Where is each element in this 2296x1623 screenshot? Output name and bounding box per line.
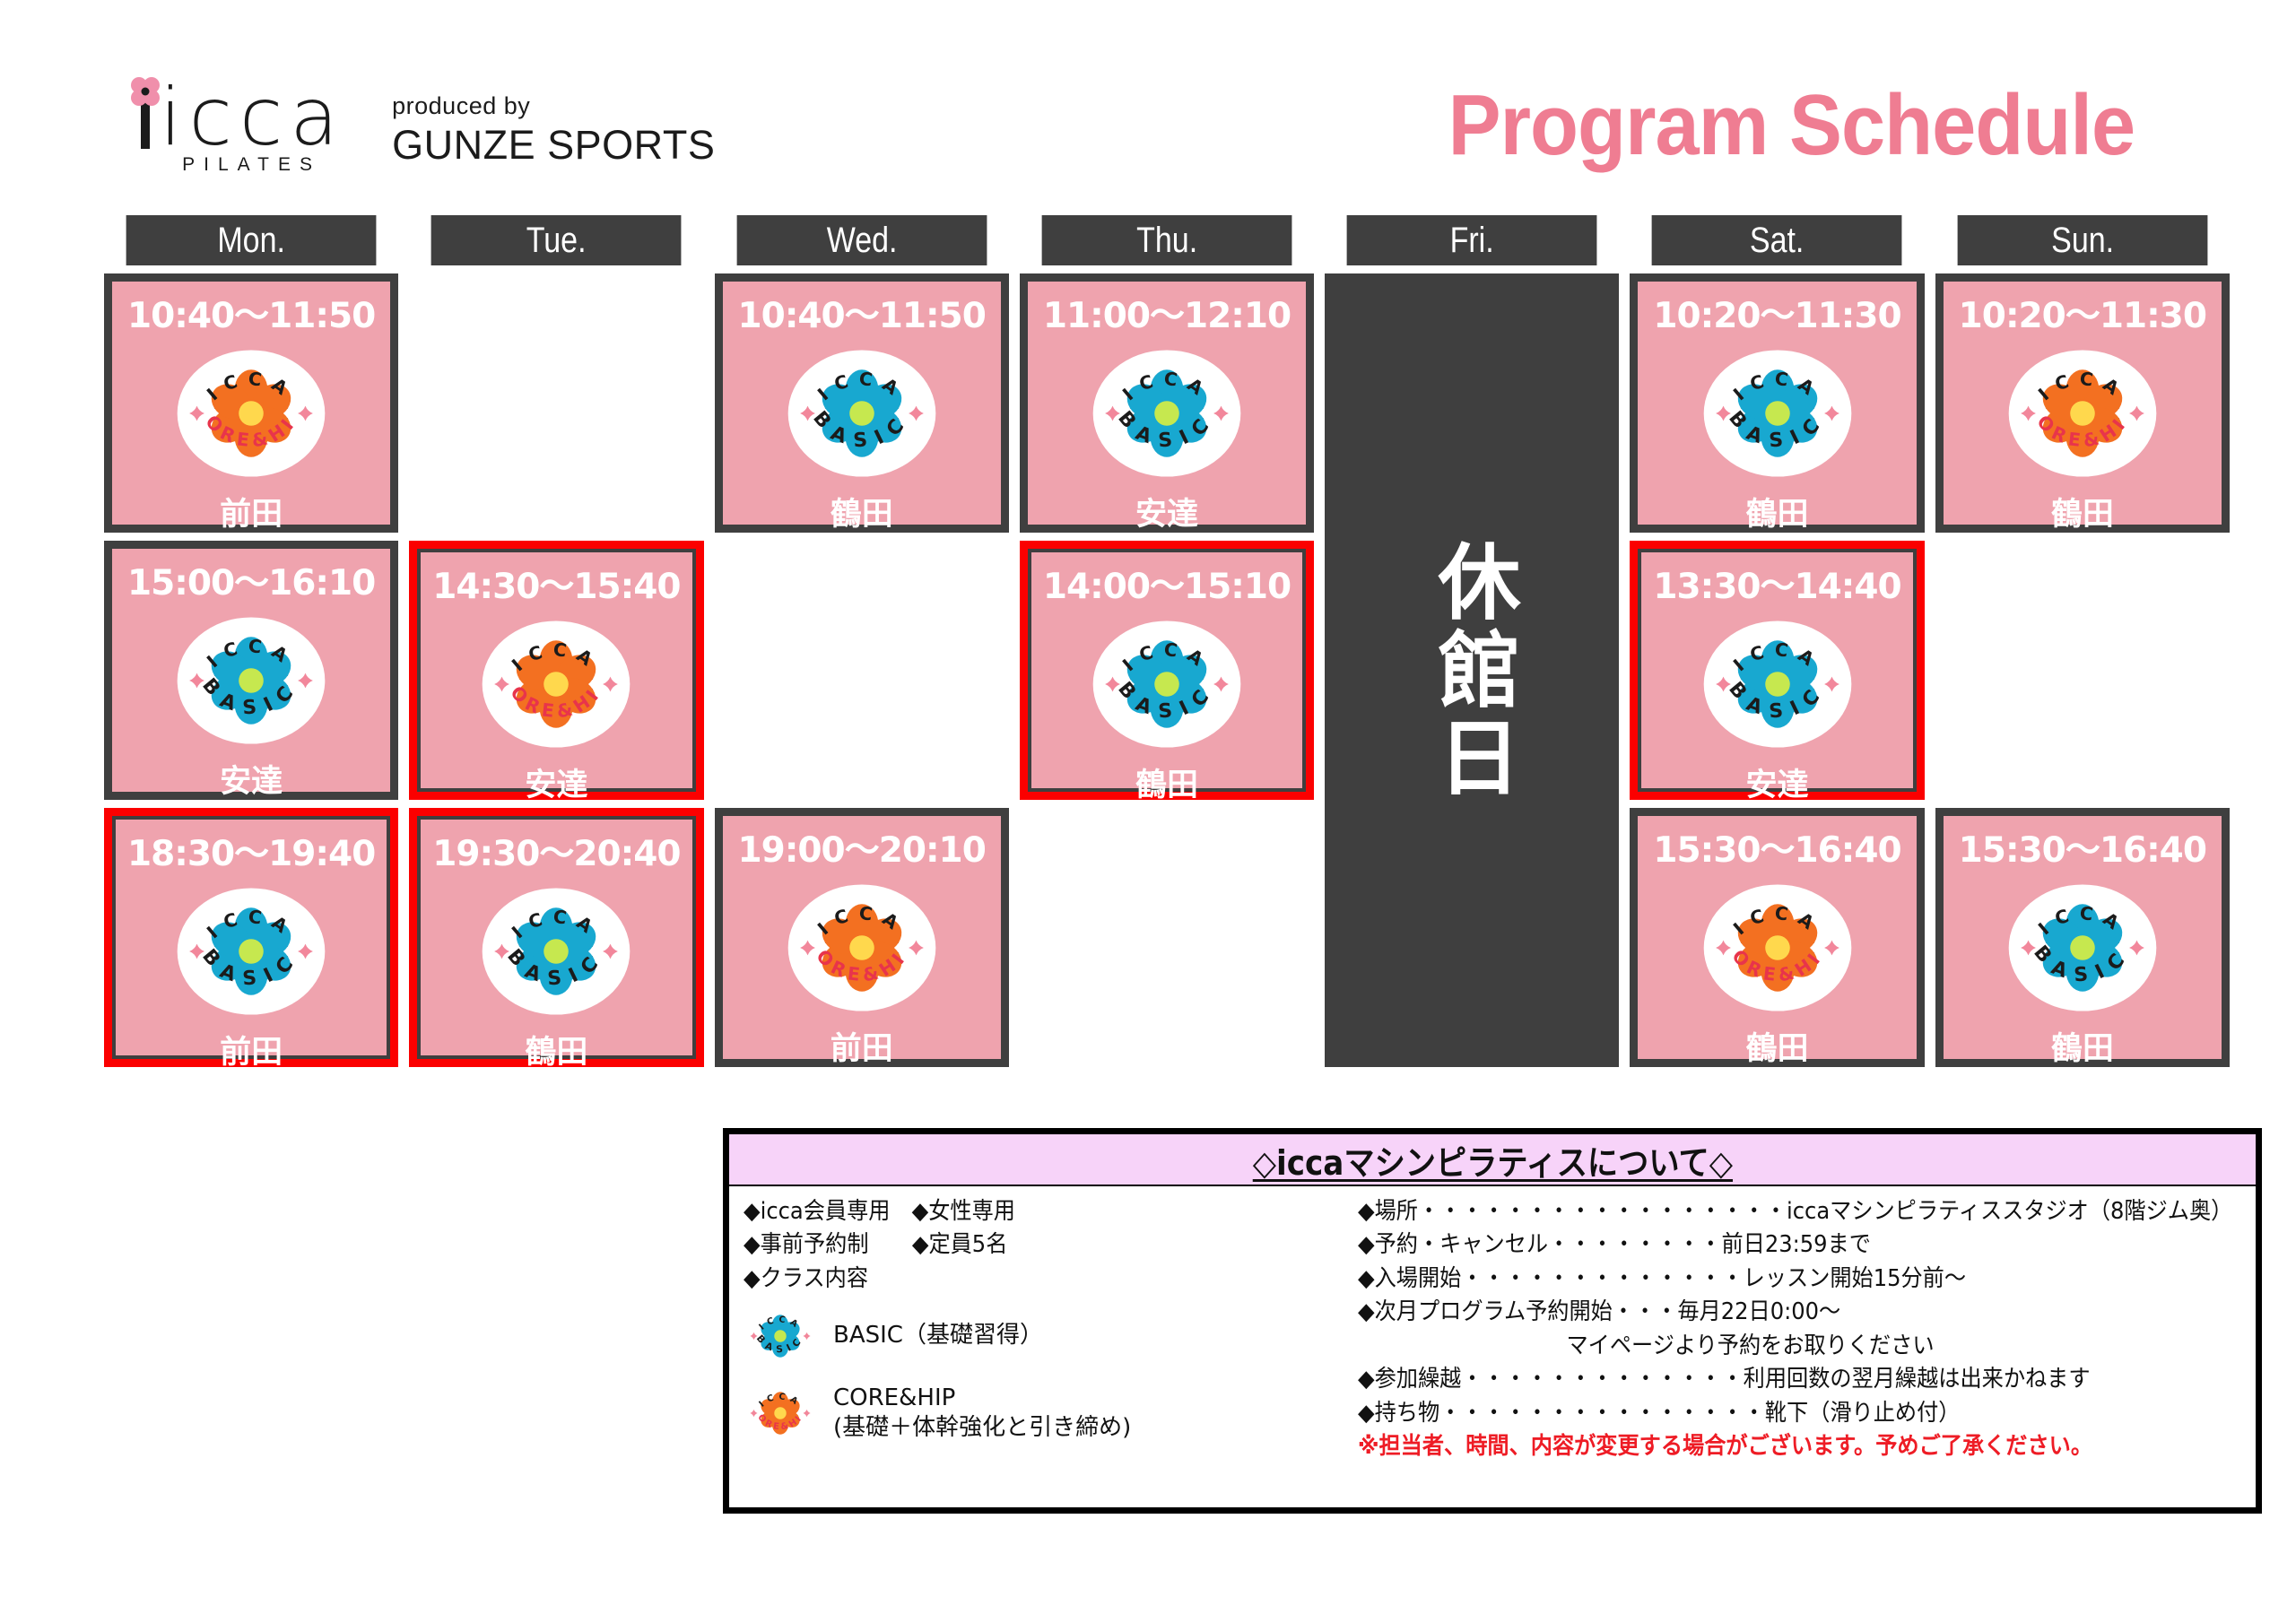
info-right-column: ◆場所・・・・・・・・・・・・・・・・・iccaマシンピラティススタジオ（8階ジ… (1358, 1195, 2241, 1464)
class-cell-highlighted[interactable]: 14:00〜15:10 ICCA BASIC 鶴田 (1020, 541, 1314, 800)
legend-label: BASIC（基礎習得） (833, 1321, 1043, 1351)
class-badge: ICCA BASIC (176, 605, 326, 756)
class-slot[interactable]: 10:20〜11:30 ICCA CORE&HIP 鶴田 (1935, 273, 2230, 533)
class-instructor: 鶴田 (1135, 759, 1198, 805)
day-column-thu: 11:00〜12:10 ICCA BASIC 安達 14:00〜15:10 (1020, 273, 1314, 1067)
class-badge: ICCA BASIC (2007, 872, 2158, 1023)
class-card[interactable]: 10:40〜11:50 ICCA BASIC 鶴田 (723, 282, 1001, 525)
class-badge: ICCA BASIC (1091, 338, 1242, 489)
class-card[interactable]: 14:30〜15:40 ICCA CORE&HIP 安達 (421, 552, 691, 788)
class-badge: ICCA BASIC (787, 338, 937, 489)
icca-logo: icca PILATES (135, 79, 345, 176)
basic-program-badge-icon: ICCA BASIC (1091, 338, 1242, 489)
schedule-grid: Mon.Tue.Wed.Thu.Fri.Sat.Sun. 10:40〜11:50… (104, 215, 2230, 1067)
class-card[interactable]: 10:40〜11:50 ICCA CORE&HIP 前田 (112, 282, 390, 525)
class-badge: ICCA BASIC (1091, 609, 1242, 759)
day-header-sun: Sun. (1957, 215, 2207, 265)
class-card[interactable]: 15:00〜16:10 ICCA BASIC 安達 (112, 549, 390, 792)
day-header-wed: Wed. (736, 215, 987, 265)
info-bullet-line: ◆クラス内容 (744, 1263, 1315, 1296)
class-card[interactable]: 14:00〜15:10 ICCA BASIC 鶴田 (1031, 552, 1302, 788)
basic-program-badge-icon: ICCA BASIC (176, 605, 326, 756)
closed-day-cell: 休館日 (1325, 273, 1619, 1067)
info-box: ◇iccaマシンピラティスについて◇ ◆icca会員専用 ◆女性専用◆事前予約制… (723, 1128, 2262, 1514)
info-detail-line: ◆場所・・・・・・・・・・・・・・・・・iccaマシンピラティススタジオ（8階ジ… (1358, 1195, 2179, 1228)
class-badge: ICCA CORE&HIP (481, 609, 631, 759)
class-slot[interactable]: 15:30〜16:40 ICCA BASIC 鶴田 (1935, 808, 2230, 1067)
class-badge: ICCA CORE&HIP (176, 338, 326, 489)
logo-letters: icca (160, 87, 345, 149)
class-cell[interactable]: 15:00〜16:10 ICCA BASIC 安達 (104, 541, 398, 800)
class-slot[interactable]: 10:40〜11:50 ICCA BASIC 鶴田 (715, 273, 1009, 533)
highlight-border: 14:00〜15:10 ICCA BASIC 鶴田 (1020, 541, 1314, 800)
logo-i-stem (135, 79, 156, 149)
class-card[interactable]: 19:30〜20:40 ICCA BASIC 鶴田 (421, 820, 691, 1055)
class-instructor: 鶴田 (1746, 489, 1809, 534)
info-title-bar: ◇iccaマシンピラティスについて◇ (729, 1134, 2256, 1186)
corehip-program-badge-icon: ICCA CORE&HIP (787, 872, 937, 1023)
class-card[interactable]: 10:20〜11:30 ICCA BASIC 鶴田 (1638, 282, 1916, 525)
class-card[interactable]: 19:00〜20:10 ICCA CORE&HIP 前田 (723, 816, 1001, 1059)
class-badge: ICCA CORE&HIP (1702, 872, 1853, 1023)
basic-program-badge-icon: ICCA BASIC (481, 876, 631, 1027)
class-cell-highlighted[interactable]: 13:30〜14:40 ICCA BASIC 安達 (1630, 541, 1924, 800)
day-header-mon: Mon. (126, 215, 377, 265)
class-badge: ICCA BASIC (176, 876, 326, 1027)
class-time: 18:30〜19:40 (127, 826, 375, 876)
class-time: 15:00〜16:10 (127, 555, 375, 605)
day-header-thu: Thu. (1041, 215, 1291, 265)
basic-program-badge-icon: ICCA BASIC (1091, 609, 1242, 759)
class-badge: ICCA BASIC (1702, 609, 1853, 759)
basic-program-badge-icon: ICCA BASIC (744, 1299, 817, 1373)
info-title: ◇iccaマシンピラティスについて◇ (1252, 1135, 1732, 1185)
class-instructor: 前田 (220, 1027, 283, 1072)
highlight-border: 18:30〜19:40 ICCA BASIC 前田 (104, 808, 398, 1067)
class-badge: ICCA BASIC (1702, 338, 1853, 489)
closed-day-block: 休館日 (1325, 273, 1619, 1067)
partner-name: GUNZE SPORTS (392, 122, 715, 169)
class-slot[interactable]: 14:30〜15:40 ICCA CORE&HIP 安達 (409, 541, 703, 800)
class-cell-highlighted[interactable]: 18:30〜19:40 ICCA BASIC 前田 (104, 808, 398, 1067)
class-cell[interactable]: 15:30〜16:40 ICCA BASIC 鶴田 (1935, 808, 2230, 1067)
legend-badge: ICCA BASIC (744, 1299, 817, 1373)
class-instructor: 安達 (1746, 759, 1809, 805)
class-card[interactable]: 18:30〜19:40 ICCA BASIC 前田 (116, 820, 387, 1055)
flower-icon (127, 74, 163, 109)
class-cell[interactable]: 10:40〜11:50 ICCA CORE&HIP 前田 (104, 273, 398, 533)
info-detail-line: ◆持ち物・・・・・・・・・・・・・・・靴下（滑り止め付） (1358, 1397, 2179, 1430)
day-column-tue: 14:30〜15:40 ICCA CORE&HIP 安達 19:30〜20:40 (409, 273, 703, 1067)
class-instructor: 安達 (220, 756, 283, 802)
corehip-program-badge-icon: ICCA CORE&HIP (481, 609, 631, 759)
class-instructor: 前田 (220, 489, 283, 534)
class-cell-highlighted[interactable]: 19:30〜20:40 ICCA BASIC 鶴田 (409, 808, 703, 1067)
class-legend-row: ICCA BASIC BASIC（基礎習得） (744, 1299, 1358, 1373)
day-header-fri: Fri. (1347, 215, 1597, 265)
class-cell[interactable]: 10:20〜11:30 ICCA BASIC 鶴田 (1630, 273, 1924, 533)
day-column-wed: 10:40〜11:50 ICCA BASIC 鶴田 19:00〜20:10 (715, 273, 1009, 1067)
class-card[interactable]: 15:30〜16:40 ICCA CORE&HIP 鶴田 (1638, 816, 1916, 1059)
class-time: 14:30〜15:40 (432, 559, 680, 609)
class-card[interactable]: 10:20〜11:30 ICCA CORE&HIP 鶴田 (1944, 282, 2222, 525)
schedule-columns: 10:40〜11:50 ICCA CORE&HIP 前田 15:00〜16:10 (104, 273, 2230, 1067)
day-header-sat: Sat. (1652, 215, 1902, 265)
brand-lockup: icca PILATES produced by GUNZE SPORTS (135, 79, 715, 176)
icca-wordmark: icca (135, 79, 345, 149)
class-slot[interactable]: 18:30〜19:40 ICCA BASIC 前田 (104, 808, 398, 1067)
class-cell[interactable]: 10:40〜11:50 ICCA BASIC 鶴田 (715, 273, 1009, 533)
class-time: 10:40〜11:50 (738, 288, 986, 338)
highlight-border: 14:30〜15:40 ICCA CORE&HIP 安達 (409, 541, 703, 800)
info-warning-line: ※担当者、時間、内容が変更する場合がございます。予めご了承ください。 (1358, 1430, 2179, 1463)
class-cell[interactable]: 10:20〜11:30 ICCA CORE&HIP 鶴田 (1935, 273, 2230, 533)
info-detail-line: ◆予約・キャンセル・・・・・・・・前日23:59まで (1358, 1228, 2179, 1262)
corehip-program-badge-icon: ICCA CORE&HIP (1702, 872, 1853, 1023)
class-cell[interactable]: 11:00〜12:10 ICCA BASIC 安達 (1020, 273, 1314, 533)
class-badge: ICCA BASIC (481, 876, 631, 1027)
class-time: 19:30〜20:40 (432, 826, 680, 876)
program-schedule-poster: icca PILATES produced by GUNZE SPORTS Pr… (0, 0, 2296, 1623)
class-time: 13:30〜14:40 (1653, 559, 1900, 609)
class-card[interactable]: 11:00〜12:10 ICCA BASIC 安達 (1028, 282, 1306, 525)
corehip-program-badge-icon: ICCA CORE&HIP (176, 338, 326, 489)
produced-by-block: produced by GUNZE SPORTS (392, 92, 715, 176)
class-badge: ICCA CORE&HIP (787, 872, 937, 1023)
class-instructor: 安達 (1135, 489, 1198, 534)
class-badge: ICCA CORE&HIP (2007, 338, 2158, 489)
corehip-program-badge-icon: ICCA CORE&HIP (744, 1376, 817, 1450)
class-slot[interactable]: 11:00〜12:10 ICCA BASIC 安達 (1020, 273, 1314, 533)
highlight-border: 19:30〜20:40 ICCA BASIC 鶴田 (409, 808, 703, 1067)
class-cell-highlighted[interactable]: 14:30〜15:40 ICCA CORE&HIP 安達 (409, 541, 703, 800)
class-time: 15:30〜16:40 (1959, 822, 2206, 872)
info-bullet-line: ◆事前予約制 ◆定員5名 (744, 1228, 1315, 1262)
class-card[interactable]: 13:30〜14:40 ICCA BASIC 安達 (1641, 552, 1912, 788)
class-slot[interactable]: 19:30〜20:40 ICCA BASIC 鶴田 (409, 808, 703, 1067)
class-instructor: 鶴田 (525, 1027, 587, 1072)
info-left-column: ◆icca会員専用 ◆女性専用◆事前予約制 ◆定員5名◆クラス内容 ICCA B… (744, 1195, 1358, 1464)
day-header-row: Mon.Tue.Wed.Thu.Fri.Sat.Sun. (104, 215, 2230, 265)
class-legend-row: ICCA CORE&HIP CORE&HIP(基礎＋体幹強化と引き締め) (744, 1376, 1358, 1450)
class-instructor: 鶴田 (1746, 1023, 1809, 1069)
info-detail-line: ◆入場開始・・・・・・・・・・・・・レッスン開始15分前〜 (1358, 1263, 2179, 1296)
class-slot[interactable]: 10:20〜11:30 ICCA BASIC 鶴田 (1630, 273, 1924, 533)
produced-by-label: produced by (392, 92, 715, 120)
class-slot[interactable]: 19:00〜20:10 ICCA CORE&HIP 前田 (715, 808, 1009, 1067)
class-instructor: 前田 (831, 1023, 893, 1069)
class-instructor: 鶴田 (2051, 1023, 2114, 1069)
info-detail-line: ◆参加繰越・・・・・・・・・・・・・利用回数の翌月繰越は出来かねます (1358, 1363, 2179, 1396)
class-slot[interactable]: 15:00〜16:10 ICCA BASIC 安達 (104, 541, 398, 800)
day-column-fri: 休館日 (1325, 273, 1619, 1067)
class-card[interactable]: 15:30〜16:40 ICCA BASIC 鶴田 (1944, 816, 2222, 1059)
class-slot[interactable]: 13:30〜14:40 ICCA BASIC 安達 (1630, 541, 1924, 800)
class-time: 15:30〜16:40 (1653, 822, 1900, 872)
class-time: 19:00〜20:10 (738, 822, 986, 872)
class-instructor: 鶴田 (2051, 489, 2114, 534)
corehip-program-badge-icon: ICCA CORE&HIP (2007, 338, 2158, 489)
highlight-border: 13:30〜14:40 ICCA BASIC 安達 (1630, 541, 1924, 800)
class-cell[interactable]: 15:30〜16:40 ICCA CORE&HIP 鶴田 (1630, 808, 1924, 1067)
class-instructor: 安達 (525, 759, 587, 805)
day-header-tue: Tue. (431, 215, 682, 265)
page-title: Program Schedule (1448, 76, 2135, 175)
class-time: 10:20〜11:30 (1653, 288, 1900, 338)
class-instructor: 鶴田 (831, 489, 893, 534)
class-slot[interactable]: 14:00〜15:10 ICCA BASIC 鶴田 (1020, 541, 1314, 800)
class-slot[interactable]: 15:30〜16:40 ICCA CORE&HIP 鶴田 (1630, 808, 1924, 1067)
class-cell[interactable]: 19:00〜20:10 ICCA CORE&HIP 前田 (715, 808, 1009, 1067)
info-detail-line: ◆次月プログラム予約開始・・・毎月22日0:00〜 (1358, 1296, 2179, 1329)
class-time: 10:20〜11:30 (1959, 288, 2206, 338)
day-column-sat: 10:20〜11:30 ICCA BASIC 鶴田 13:30〜14:40 (1630, 273, 1924, 1067)
basic-program-badge-icon: ICCA BASIC (176, 876, 326, 1027)
class-slot[interactable]: 10:40〜11:50 ICCA CORE&HIP 前田 (104, 273, 398, 533)
class-time: 14:00〜15:10 (1043, 559, 1291, 609)
basic-program-badge-icon: ICCA BASIC (1702, 338, 1853, 489)
basic-program-badge-icon: ICCA BASIC (1702, 609, 1853, 759)
closed-day-label: 休館日 (1428, 539, 1517, 803)
day-column-mon: 10:40〜11:50 ICCA CORE&HIP 前田 15:00〜16:10 (104, 273, 398, 1067)
class-time: 10:40〜11:50 (127, 288, 375, 338)
info-bullet-line: ◆icca会員専用 ◆女性専用 (744, 1195, 1315, 1228)
info-detail-line: マイページより予約をお取りください (1358, 1330, 2179, 1363)
day-column-sun: 10:20〜11:30 ICCA CORE&HIP 鶴田 15:30〜16:40 (1935, 273, 2230, 1067)
basic-program-badge-icon: ICCA BASIC (2007, 872, 2158, 1023)
legend-badge: ICCA CORE&HIP (744, 1376, 817, 1450)
basic-program-badge-icon: ICCA BASIC (787, 338, 937, 489)
legend-label: CORE&HIP(基礎＋体幹強化と引き締め) (833, 1384, 1131, 1445)
class-time: 11:00〜12:10 (1043, 288, 1291, 338)
info-columns: ◆icca会員専用 ◆女性専用◆事前予約制 ◆定員5名◆クラス内容 ICCA B… (729, 1186, 2256, 1464)
